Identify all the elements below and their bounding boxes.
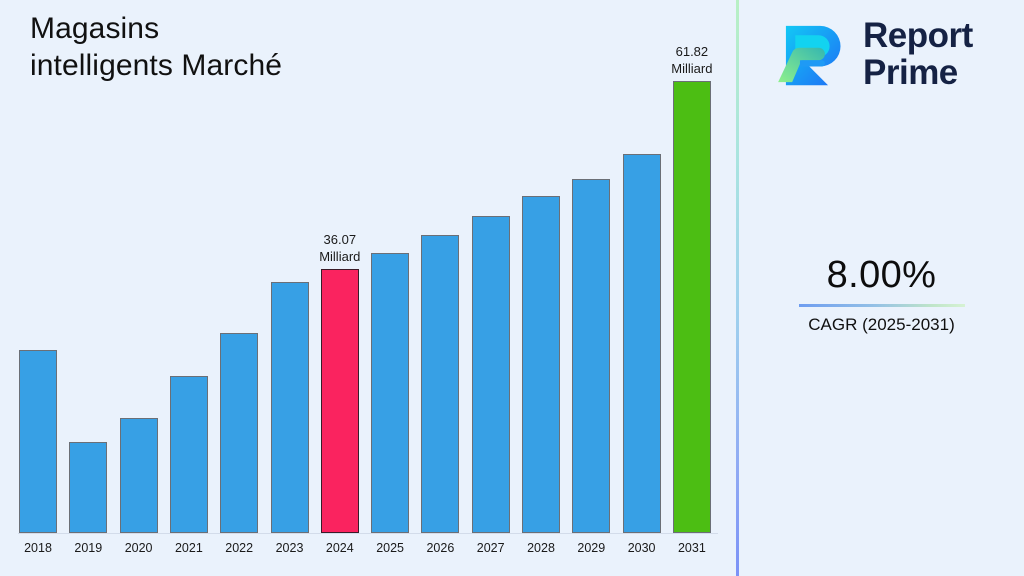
bar-group-2028 [522,43,560,533]
bar-group-2025 [371,43,409,533]
bar-group-2018 [19,43,57,533]
cagr-divider-rule [799,304,965,307]
x-tick-label-2018: 2018 [12,541,64,555]
bar-group-2020 [120,43,158,533]
x-tick-label-2028: 2028 [515,541,567,555]
chart-plot-area [0,0,726,534]
x-tick-label-2025: 2025 [364,541,416,555]
bar-group-2031: 61.82 Milliard [673,43,711,533]
x-tick-label-2026: 2026 [414,541,466,555]
x-tick-label-2024: 2024 [314,541,366,555]
bar-2022[interactable] [220,333,258,533]
cagr-caption: CAGR (2025-2031) [739,314,1024,336]
bar-group-2029 [572,43,610,533]
bar-2027[interactable] [472,216,510,533]
x-tick-label-2022: 2022 [213,541,265,555]
bar-group-2026 [421,43,459,533]
cagr-value: 8.00% [739,252,1024,298]
x-tick-label-2019: 2019 [62,541,114,555]
bar-group-2030 [623,43,661,533]
bar-2019[interactable] [69,442,107,533]
x-tick-label-2027: 2027 [465,541,517,555]
bar-group-2021 [170,43,208,533]
bar-2026[interactable] [421,235,459,533]
bar-group-2024: 36.07 Milliard [321,43,359,533]
bar-2024[interactable] [321,269,359,533]
bar-group-2022 [220,43,258,533]
bar-2023[interactable] [271,282,309,533]
bar-2029[interactable] [572,179,610,533]
bar-2021[interactable] [170,376,208,533]
x-tick-label-2031: 2031 [666,541,718,555]
x-axis-line [18,533,718,534]
x-tick-label-2030: 2030 [616,541,668,555]
bar-value-label-2031: 61.82 Milliard [642,43,742,77]
bar-2018[interactable] [19,350,57,533]
cagr-block: 8.00% CAGR (2025-2031) [739,252,1024,336]
bar-2028[interactable] [522,196,560,533]
bar-group-2023 [271,43,309,533]
bar-group-2019 [69,43,107,533]
x-tick-label-2023: 2023 [264,541,316,555]
x-tick-label-2020: 2020 [113,541,165,555]
x-tick-label-2021: 2021 [163,541,215,555]
report-prime-logo: Report Prime [775,13,1001,95]
bar-2020[interactable] [120,418,158,533]
x-tick-label-2029: 2029 [565,541,617,555]
brand-panel: Report Prime 8.00% CAGR (2025-2031) [739,0,1024,576]
logo-wordmark: Report Prime [863,17,973,91]
bar-chart: 20182019202020212022202336.07 Milliard20… [0,0,726,576]
bar-group-2027 [472,43,510,533]
bar-2025[interactable] [371,253,409,533]
report-prime-mark-icon [775,15,853,93]
infographic-page: Magasins intelligents Marché 20182019202… [0,0,1024,576]
bar-2030[interactable] [623,154,661,533]
bar-2031[interactable] [673,81,711,533]
